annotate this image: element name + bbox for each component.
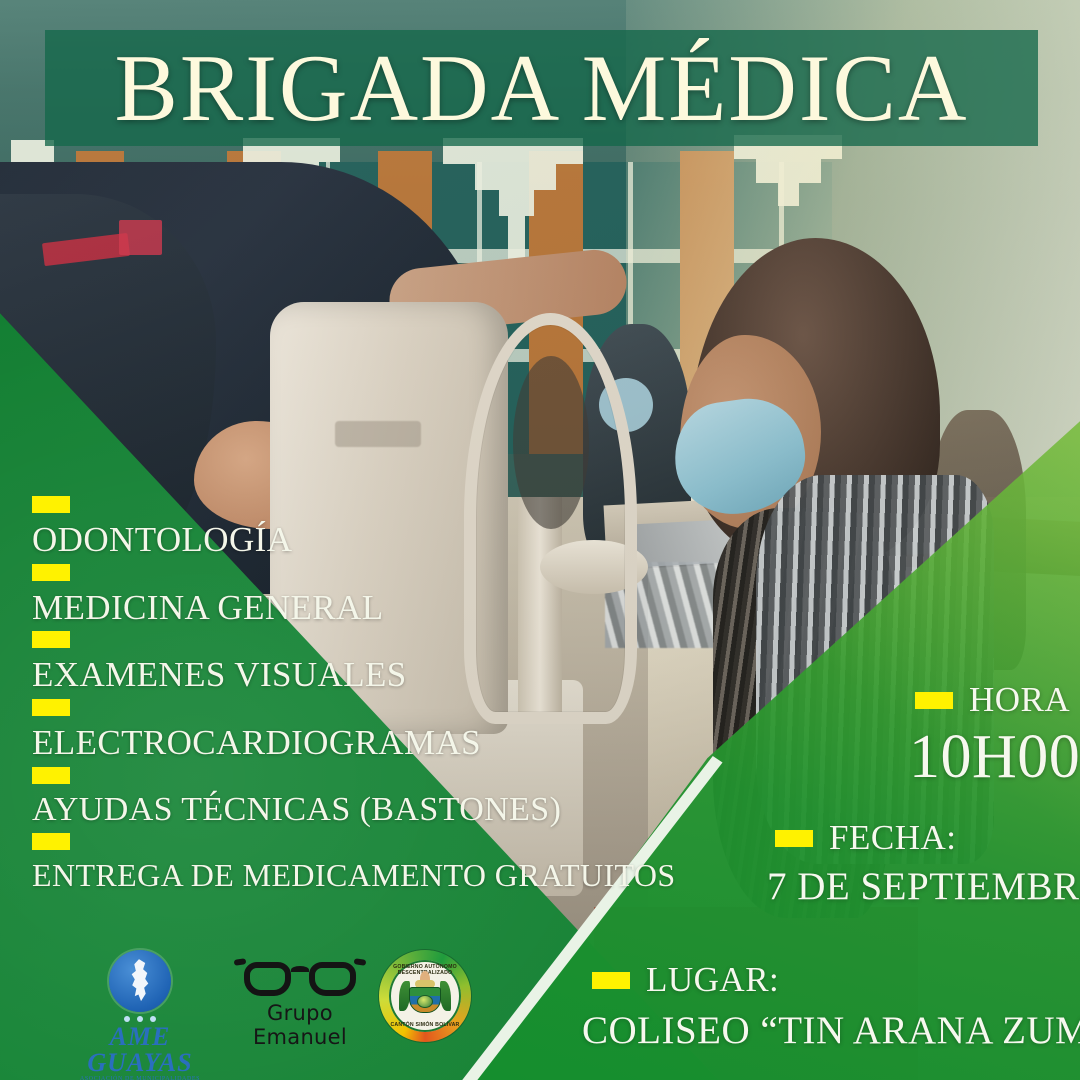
list-item: ODONTOLOGÍA (32, 496, 652, 558)
service-label: ENTREGA DE MEDICAMENTO GRATUITOS (32, 859, 652, 892)
sponsor-logos: AME GUAYAS ASOCIACIÓN DE MUNICIPALIDADES… (55, 950, 515, 1060)
poster-flyer: BRIGADA MÉDICA ODONTOLOGÍA MEDICINA GENE… (0, 0, 1080, 1080)
list-item: ELECTROCARDIOGRAMAS (32, 699, 652, 761)
yellow-square-bullet-icon (32, 767, 70, 784)
service-label: ODONTOLOGÍA (32, 522, 652, 558)
yellow-square-bullet-icon (32, 496, 70, 513)
logo-ame-guayas-text: AME GUAYAS (65, 1024, 215, 1076)
lugar-value: COLISEO “TIN ARANA ZUMBA” (582, 1008, 1080, 1053)
seal-globe (417, 995, 433, 1008)
seal-inner-disc: GOBIERNO AUTÓNOMO DESCENTRALIZADO CANTÓN… (389, 960, 461, 1032)
page-title: BRIGADA MÉDICA (45, 30, 1038, 146)
seal-coat-of-arms (400, 971, 450, 1021)
hora-value: 10H00 (909, 722, 1080, 793)
services-list: ODONTOLOGÍA MEDICINA GENERAL EXAMENES VI… (32, 496, 652, 898)
logo-grupo-emanuel: Grupo Emanuel (220, 958, 380, 1049)
fecha-value: 7 DE SEPTIEMBRE (767, 864, 1080, 909)
coat-of-arms-seal-icon: GOBIERNO AUTÓNOMO DESCENTRALIZADO CANTÓN… (379, 950, 471, 1042)
list-item: AYUDAS TÉCNICAS (BASTONES) (32, 767, 652, 828)
fecha-label-row: FECHA: (775, 818, 1080, 858)
hora-label-row: HORA (915, 680, 1080, 720)
lugar-label-row: LUGAR: (592, 960, 1080, 1000)
hora-label: HORA (969, 680, 1070, 720)
lugar-block: LUGAR: COLISEO “TIN ARANA ZUMBA” (592, 960, 1080, 1053)
logo-grupo-emanuel-text: Grupo Emanuel (220, 1001, 380, 1049)
guayas-province-map-icon (109, 950, 171, 1012)
yellow-square-bullet-icon (775, 830, 813, 847)
seal-ring-bottom-text: CANTÓN SIMÓN BOLÍVAR (389, 1022, 461, 1028)
yellow-square-bullet-icon (592, 972, 630, 989)
yellow-square-bullet-icon (32, 631, 70, 648)
yellow-square-bullet-icon (32, 564, 70, 581)
service-label: EXAMENES VISUALES (32, 657, 652, 693)
yellow-square-bullet-icon (32, 833, 70, 850)
yellow-square-bullet-icon (915, 692, 953, 709)
lugar-label: LUGAR: (646, 960, 779, 1000)
service-label: ELECTROCARDIOGRAMAS (32, 725, 652, 761)
logo-canton-simon-bolivar: GOBIERNO AUTÓNOMO DESCENTRALIZADO CANTÓN… (370, 950, 480, 1042)
province-map-shape (127, 959, 153, 1001)
logo-ame-guayas: AME GUAYAS ASOCIACIÓN DE MUNICIPALIDADES… (65, 950, 215, 1080)
list-item: MEDICINA GENERAL (32, 564, 652, 626)
yellow-square-bullet-icon (32, 699, 70, 716)
list-item: ENTREGA DE MEDICAMENTO GRATUITOS (32, 833, 652, 892)
seal-wreath-right (440, 981, 451, 1011)
service-label: AYUDAS TÉCNICAS (BASTONES) (32, 793, 652, 828)
fecha-block: FECHA: 7 DE SEPTIEMBRE (775, 818, 1080, 909)
eyeglasses-icon (244, 958, 356, 1000)
fecha-label: FECHA: (829, 818, 956, 858)
seal-figure (420, 971, 430, 987)
logo-ame-guayas-subtext: ASOCIACIÓN DE MUNICIPALIDADES ECUATORIAN… (65, 1076, 215, 1080)
hora-block: HORA 10H00 (915, 680, 1080, 793)
service-label: MEDICINA GENERAL (32, 590, 652, 626)
list-item: EXAMENES VISUALES (32, 631, 652, 693)
